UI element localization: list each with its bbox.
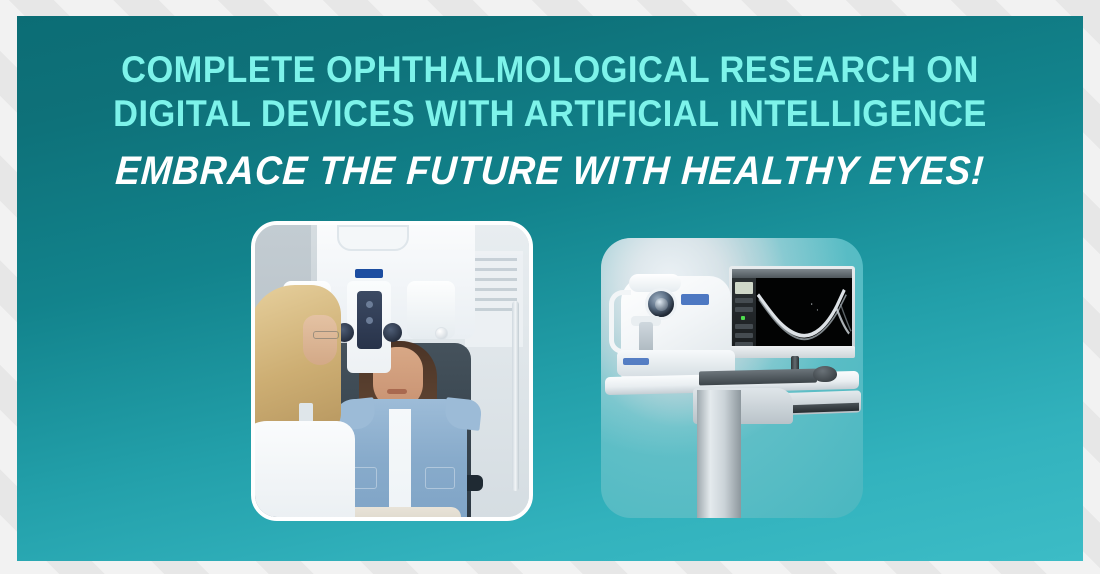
oct-monitor-screen [732,269,852,349]
oct-monitor-bezel [729,266,855,352]
retina-scan-image [756,278,852,349]
oct-base-badge [623,358,649,365]
page-background: COMPLETE OPHTHALMOLOGICAL RESEARCH ON DI… [0,0,1100,574]
clinic-photo-content [255,225,529,517]
doctor-id-badge [299,403,313,423]
cart-column [697,390,741,518]
device-indicator-dot [366,317,373,324]
media-row [17,16,1083,561]
oct-software-toolbar [732,269,852,278]
oct-photo-content [601,238,863,518]
doctor-glasses-icon [313,331,339,339]
device-lens-right [383,323,402,342]
oct-scanner-handle [609,290,631,354]
oct-lens-glass [655,298,668,311]
doctor-face [303,315,337,365]
denim-pocket-right [425,467,455,489]
cart-mouse [813,366,837,382]
doctor-white-coat [255,421,355,517]
device-brand-badge [355,269,383,278]
promo-banner: COMPLETE OPHTHALMOLOGICAL RESEARCH ON DI… [17,16,1083,561]
patient-lips [387,389,407,394]
device-top-bracket [337,225,409,251]
device-knob-right [435,327,448,340]
oct-brand-logo [681,294,709,305]
oct-device-photo [601,238,863,518]
clinic-examination-photo [251,221,533,521]
equipment-pole [512,301,519,491]
patient-trousers [345,507,461,517]
cart-keyboard [699,369,817,386]
oct-software-sidebar [732,278,756,349]
device-indicator-dot [366,301,373,308]
device-arm-right [407,281,455,339]
